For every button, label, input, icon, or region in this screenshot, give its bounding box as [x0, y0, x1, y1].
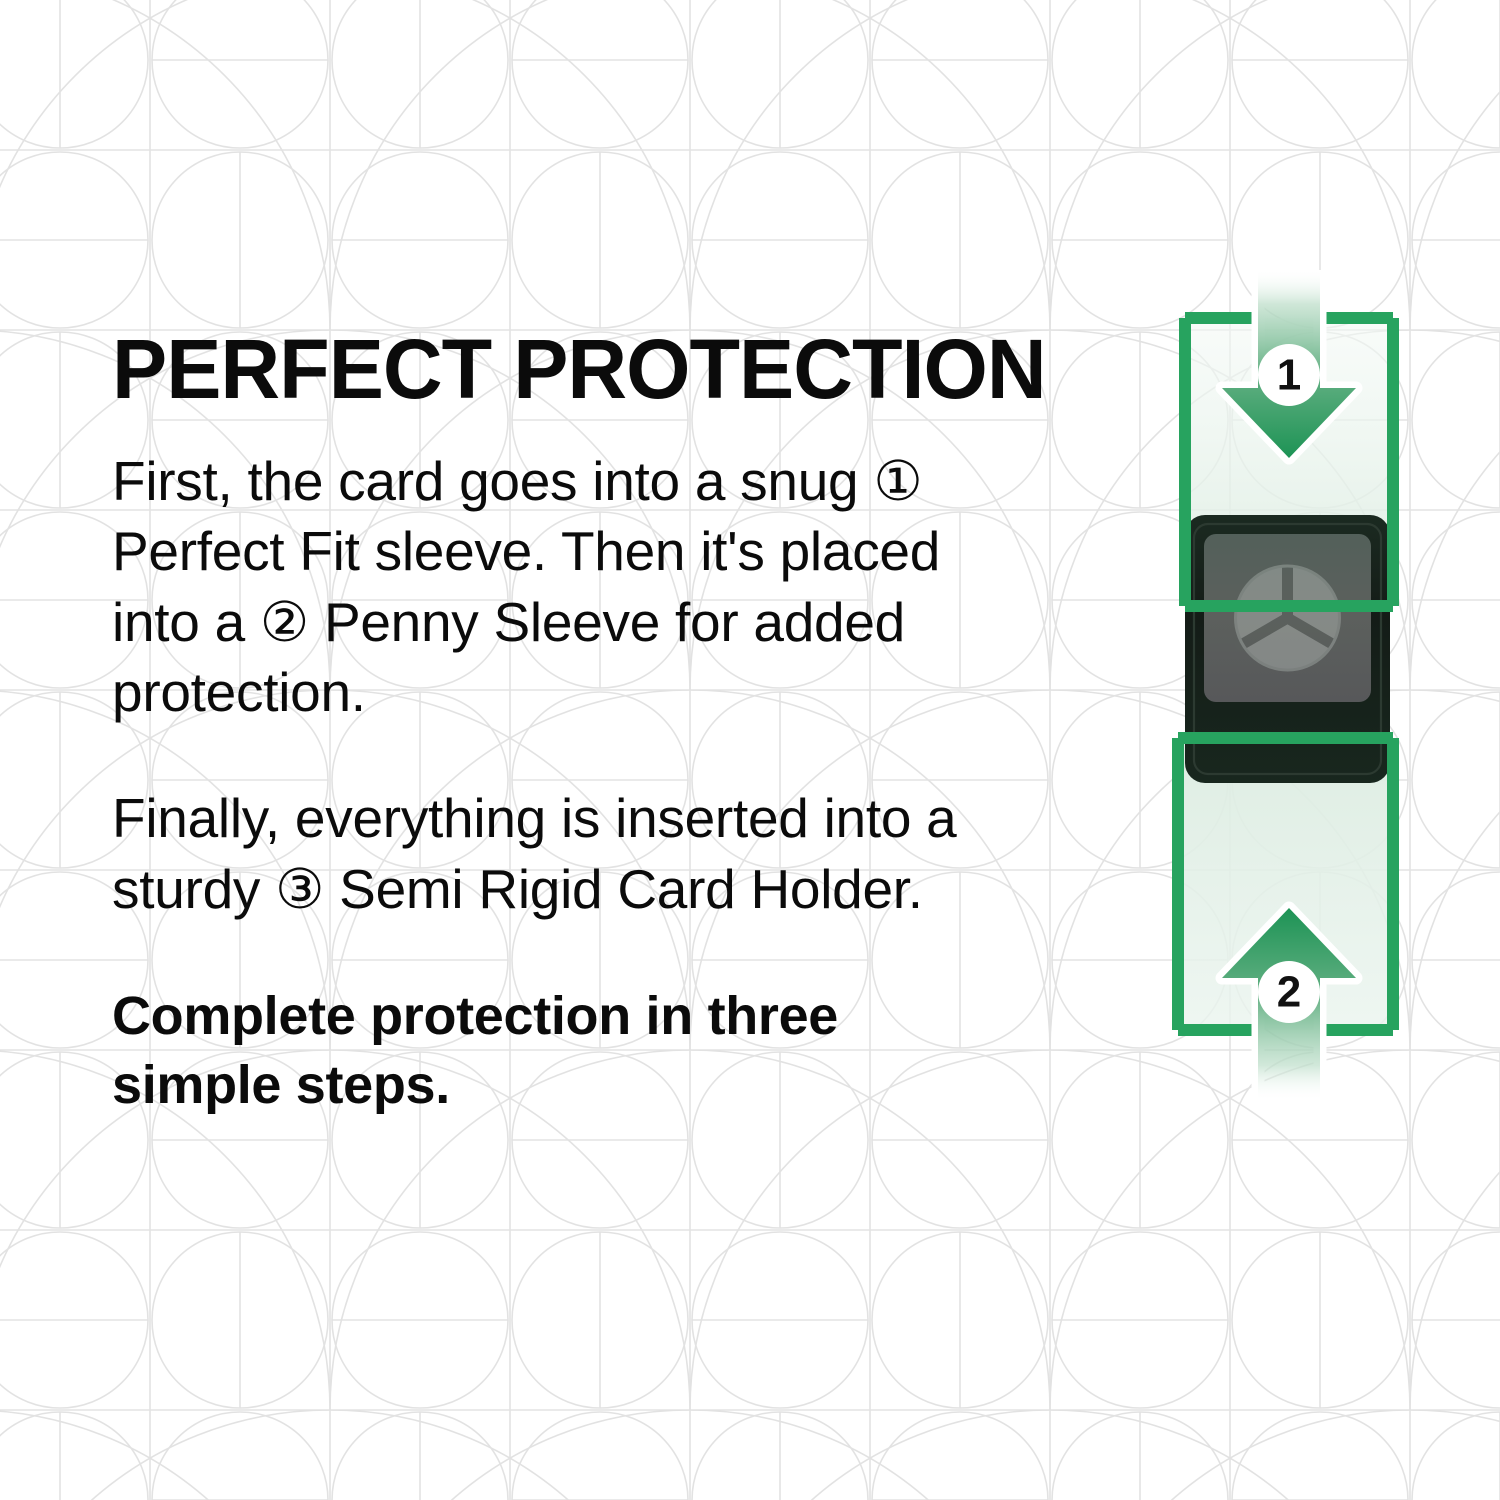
step-2-badge-label: 2 [1277, 968, 1301, 1017]
page-title: PERFECT PROTECTION [112, 330, 979, 410]
step-1-badge-label: 1 [1277, 351, 1301, 400]
poster-canvas: PERFECT PROTECTION First, the card goes … [0, 0, 1500, 1500]
body-paragraph-2: Finally, everything is inserted into a s… [112, 783, 992, 924]
body-paragraph-1: First, the card goes into a snug ① Perfe… [112, 446, 992, 728]
card-protection-diagram: 1 2 [1140, 270, 1440, 1100]
text-column: PERFECT PROTECTION First, the card goes … [112, 330, 992, 1120]
three-spoke-emblem [1236, 564, 1340, 670]
closing-statement: Complete protection in three simple step… [112, 982, 992, 1120]
